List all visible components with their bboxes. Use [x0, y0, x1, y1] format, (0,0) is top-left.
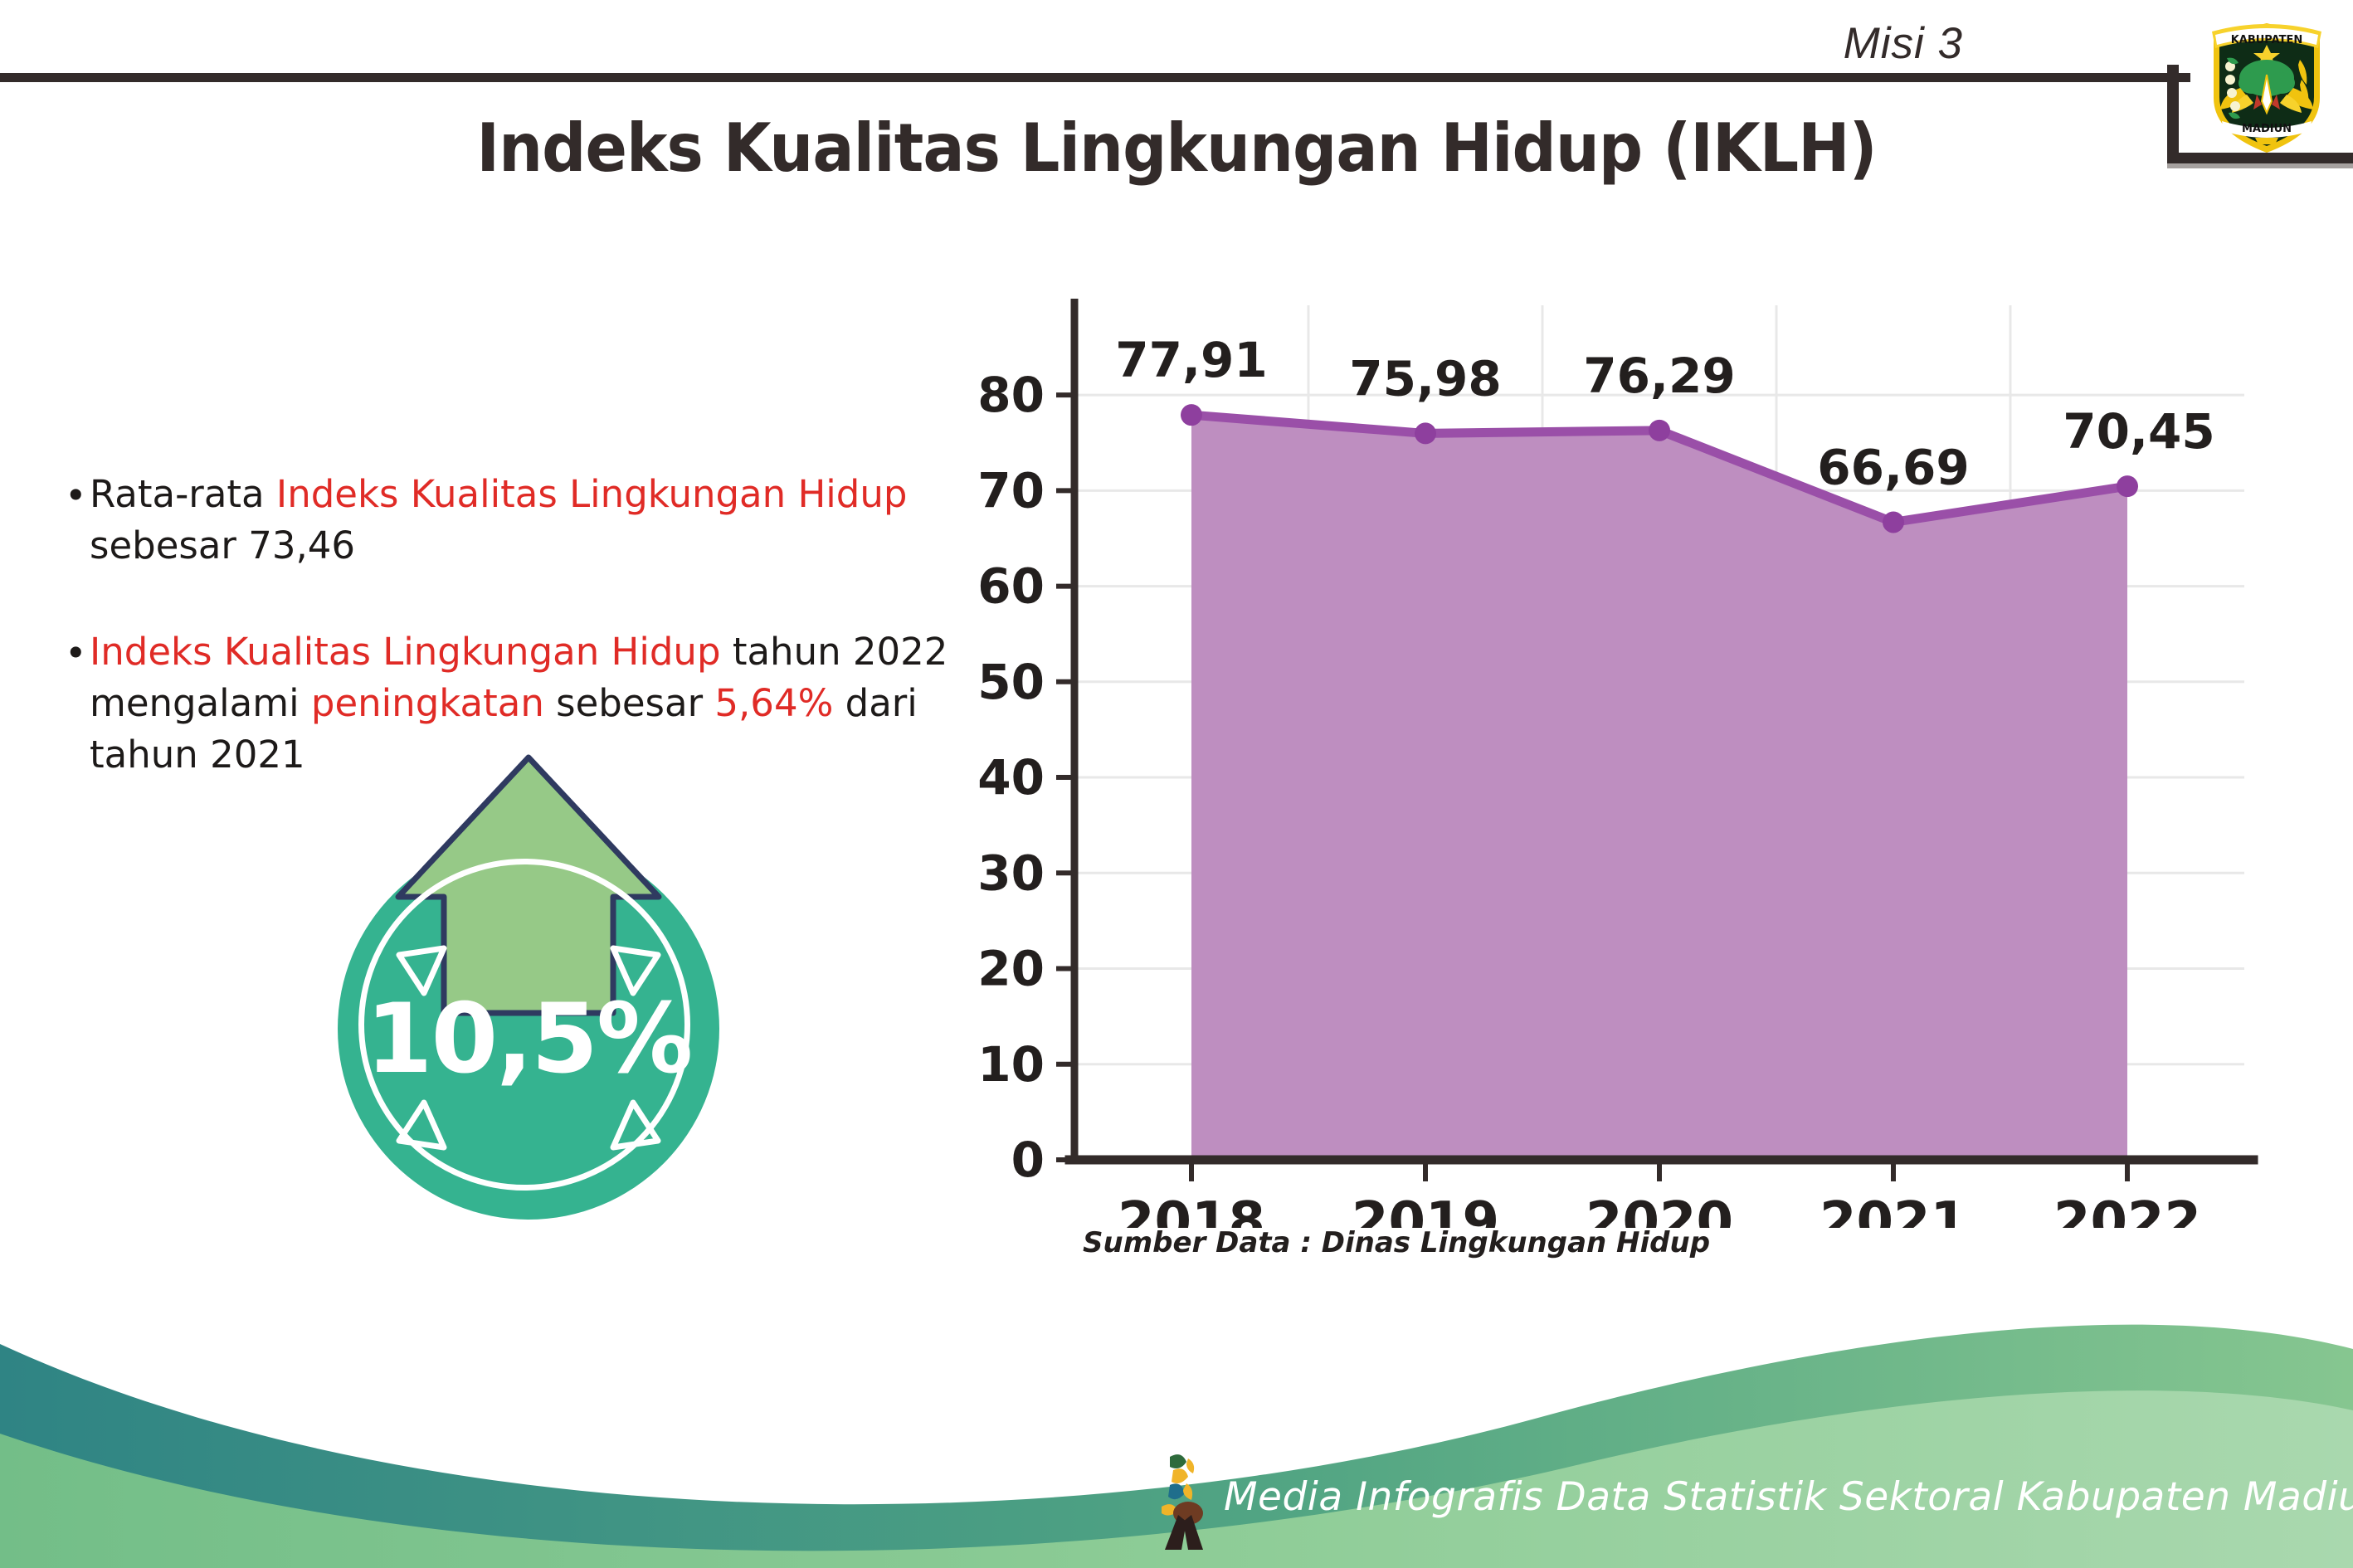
x-axis-tick-label: 2019	[1352, 1191, 1499, 1228]
growth-badge: 10,5%	[319, 751, 734, 1224]
x-axis-tick-label: 2022	[2053, 1191, 2201, 1228]
chart-source-note: Sumber Data : Dinas Lingkungan Hidup	[1083, 1226, 1710, 1259]
y-axis-tick-label: 10	[977, 1036, 1045, 1093]
page-title: Indeks Kualitas Lingkungan Hidup (IKLH)	[82, 110, 2270, 187]
data-point-marker	[1181, 404, 1202, 426]
iklh-area-chart: 77,9175,9876,2966,6970,45010203040506070…	[954, 299, 2282, 1228]
data-point-marker	[1883, 511, 1904, 533]
y-axis-tick-label: 40	[977, 749, 1045, 806]
y-axis-tick-label: 0	[1011, 1132, 1045, 1188]
statistics-figure-icon	[1145, 1445, 1224, 1553]
data-point-label: 76,29	[1583, 348, 1735, 404]
y-axis-tick-label: 70	[977, 462, 1045, 519]
footer-caption: Media Infografis Data Statistik Sektoral…	[1224, 1474, 2353, 1520]
mission-label: Misi 3	[1844, 18, 1963, 69]
data-point-marker	[1415, 422, 1436, 444]
y-axis-tick-label: 30	[977, 845, 1045, 901]
insight-list: • Rata-rata Indeks Kualitas Lingkungan H…	[65, 469, 1002, 781]
data-point-label: 75,98	[1349, 350, 1501, 407]
bullet-text-segment-accent: 5,64%	[714, 681, 833, 725]
data-point-label: 70,45	[2063, 403, 2214, 460]
y-axis-tick-label: 20	[977, 941, 1045, 997]
y-axis-tick-label: 60	[977, 558, 1045, 615]
list-item: • Rata-rata Indeks Kualitas Lingkungan H…	[65, 469, 1002, 572]
x-axis-tick-label: 2018	[1118, 1191, 1265, 1228]
data-point-marker	[2117, 475, 2138, 497]
data-point-label: 77,91	[1115, 332, 1267, 388]
bullet-text-segment-accent: Indeks Kualitas Lingkungan Hidup	[90, 630, 721, 674]
x-axis-tick-label: 2021	[1820, 1191, 1967, 1228]
bullet-marker: •	[65, 470, 87, 522]
bullet-text-segment-accent: peningkatan	[311, 681, 544, 725]
bullet-text-segment: Rata-rata	[90, 472, 276, 516]
bullet-text-segment: sebesar	[544, 681, 715, 725]
y-axis-tick-label: 50	[977, 654, 1045, 710]
data-point-label: 66,69	[1817, 439, 1969, 495]
bullet-marker: •	[65, 628, 87, 679]
data-point-marker	[1649, 420, 1670, 441]
bullet-text-segment-accent: Indeks Kualitas Lingkungan Hidup	[276, 472, 908, 516]
x-axis-tick-label: 2020	[1586, 1191, 1733, 1228]
header-divider-rule	[0, 73, 2190, 82]
badge-value: 10,5%	[338, 983, 719, 1095]
svg-text:KABUPATEN: KABUPATEN	[2231, 34, 2303, 46]
y-axis-tick-label: 80	[977, 367, 1045, 423]
bullet-text-segment: sebesar 73,46	[90, 523, 355, 567]
slide-canvas: Misi 3 KABUPATEN	[0, 0, 2353, 1568]
chart-area-fill	[1191, 415, 2127, 1160]
